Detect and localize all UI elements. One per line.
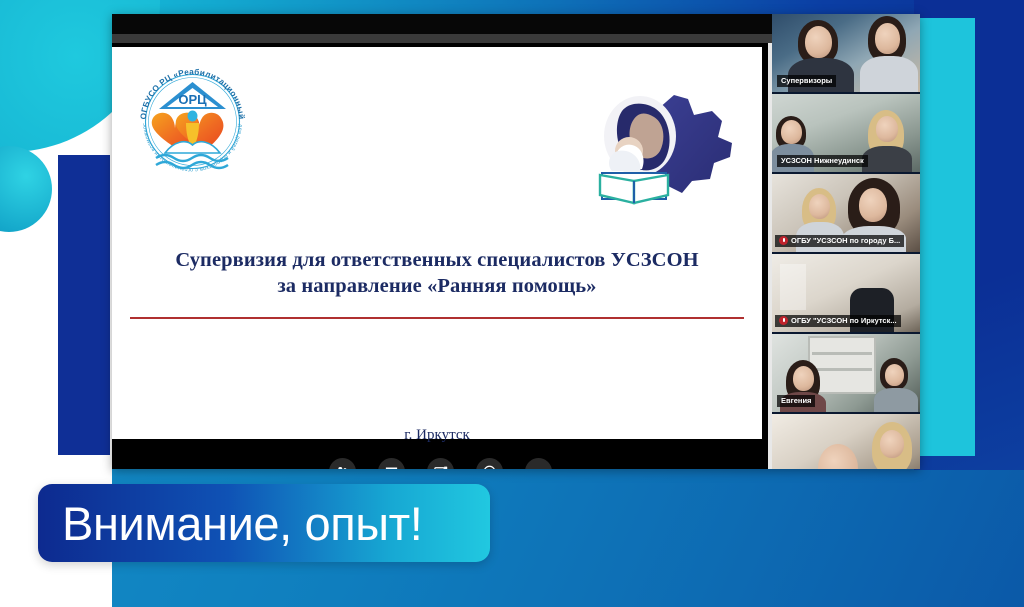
participant-name-row: ОГБУ "УСЗСОН по городу Б... [775,235,904,248]
background-navy-stripe [58,155,110,455]
participant-name: Евгения [777,395,815,408]
slide-title: Супервизия для ответственных специалисто… [132,247,742,299]
participant-tile[interactable]: Супервизоры [772,14,920,94]
caption-banner-text: Внимание, опыт! [38,496,422,551]
participant-name: Супервизоры [777,75,836,88]
participant-tile[interactable]: Выйти [772,414,920,469]
participants-icon[interactable] [329,458,356,470]
background-cyan-bar [920,18,975,456]
microphone-muted-icon [779,316,788,325]
participant-name: ОГБУ "УСЗСОН по Иркутск... [791,316,897,325]
shared-screen-stage: ОГБУСО РЦ «Реабилитационный центр для де… [112,43,768,469]
participant-name-row: ОГБУ "УСЗСОН по Иркутск... [775,315,901,328]
meeting-control-bar [112,444,768,469]
svg-text:ОРЦ: ОРЦ [178,92,207,107]
slide-title-line-2: за направление «Ранняя помощь» [132,273,742,299]
participant-filmstrip[interactable]: Супервизоры УСЗСОН Нижнеудинск [772,14,920,469]
organisation-logo-icon: ОГБУСО РЦ «Реабилитационный центр для де… [130,59,255,184]
share-screen-icon[interactable] [427,458,454,470]
chat-icon[interactable] [378,458,405,470]
early-help-emblem-icon [582,89,750,209]
video-conference-window: ОГБУСО РЦ «Реабилитационный центр для де… [112,14,920,469]
participant-tile[interactable]: ОГБУ "УСЗСОН по Иркутск... [772,254,920,334]
reactions-icon[interactable] [476,458,503,470]
microphone-muted-icon [779,236,788,245]
participant-tile[interactable]: Евгения [772,334,920,414]
slide-divider-rule [130,317,744,319]
slide-title-line-1: Супервизия для ответственных специалисто… [132,247,742,273]
participant-name: ОГБУ "УСЗСОН по городу Б... [791,236,900,245]
participant-video [772,414,920,469]
more-options-icon[interactable] [525,458,552,470]
caption-banner: Внимание, опыт! [38,484,490,562]
participant-tile[interactable]: ОГБУ "УСЗСОН по городу Б... [772,174,920,254]
participant-tile[interactable]: УСЗСОН Нижнеудинск [772,94,920,174]
screenshot-root: ОГБУСО РЦ «Реабилитационный центр для де… [0,0,1024,607]
slide-footer-city: г. Иркутск [132,425,742,445]
participant-name: УСЗСОН Нижнеудинск [777,155,868,168]
presentation-slide: ОГБУСО РЦ «Реабилитационный центр для де… [112,47,762,439]
